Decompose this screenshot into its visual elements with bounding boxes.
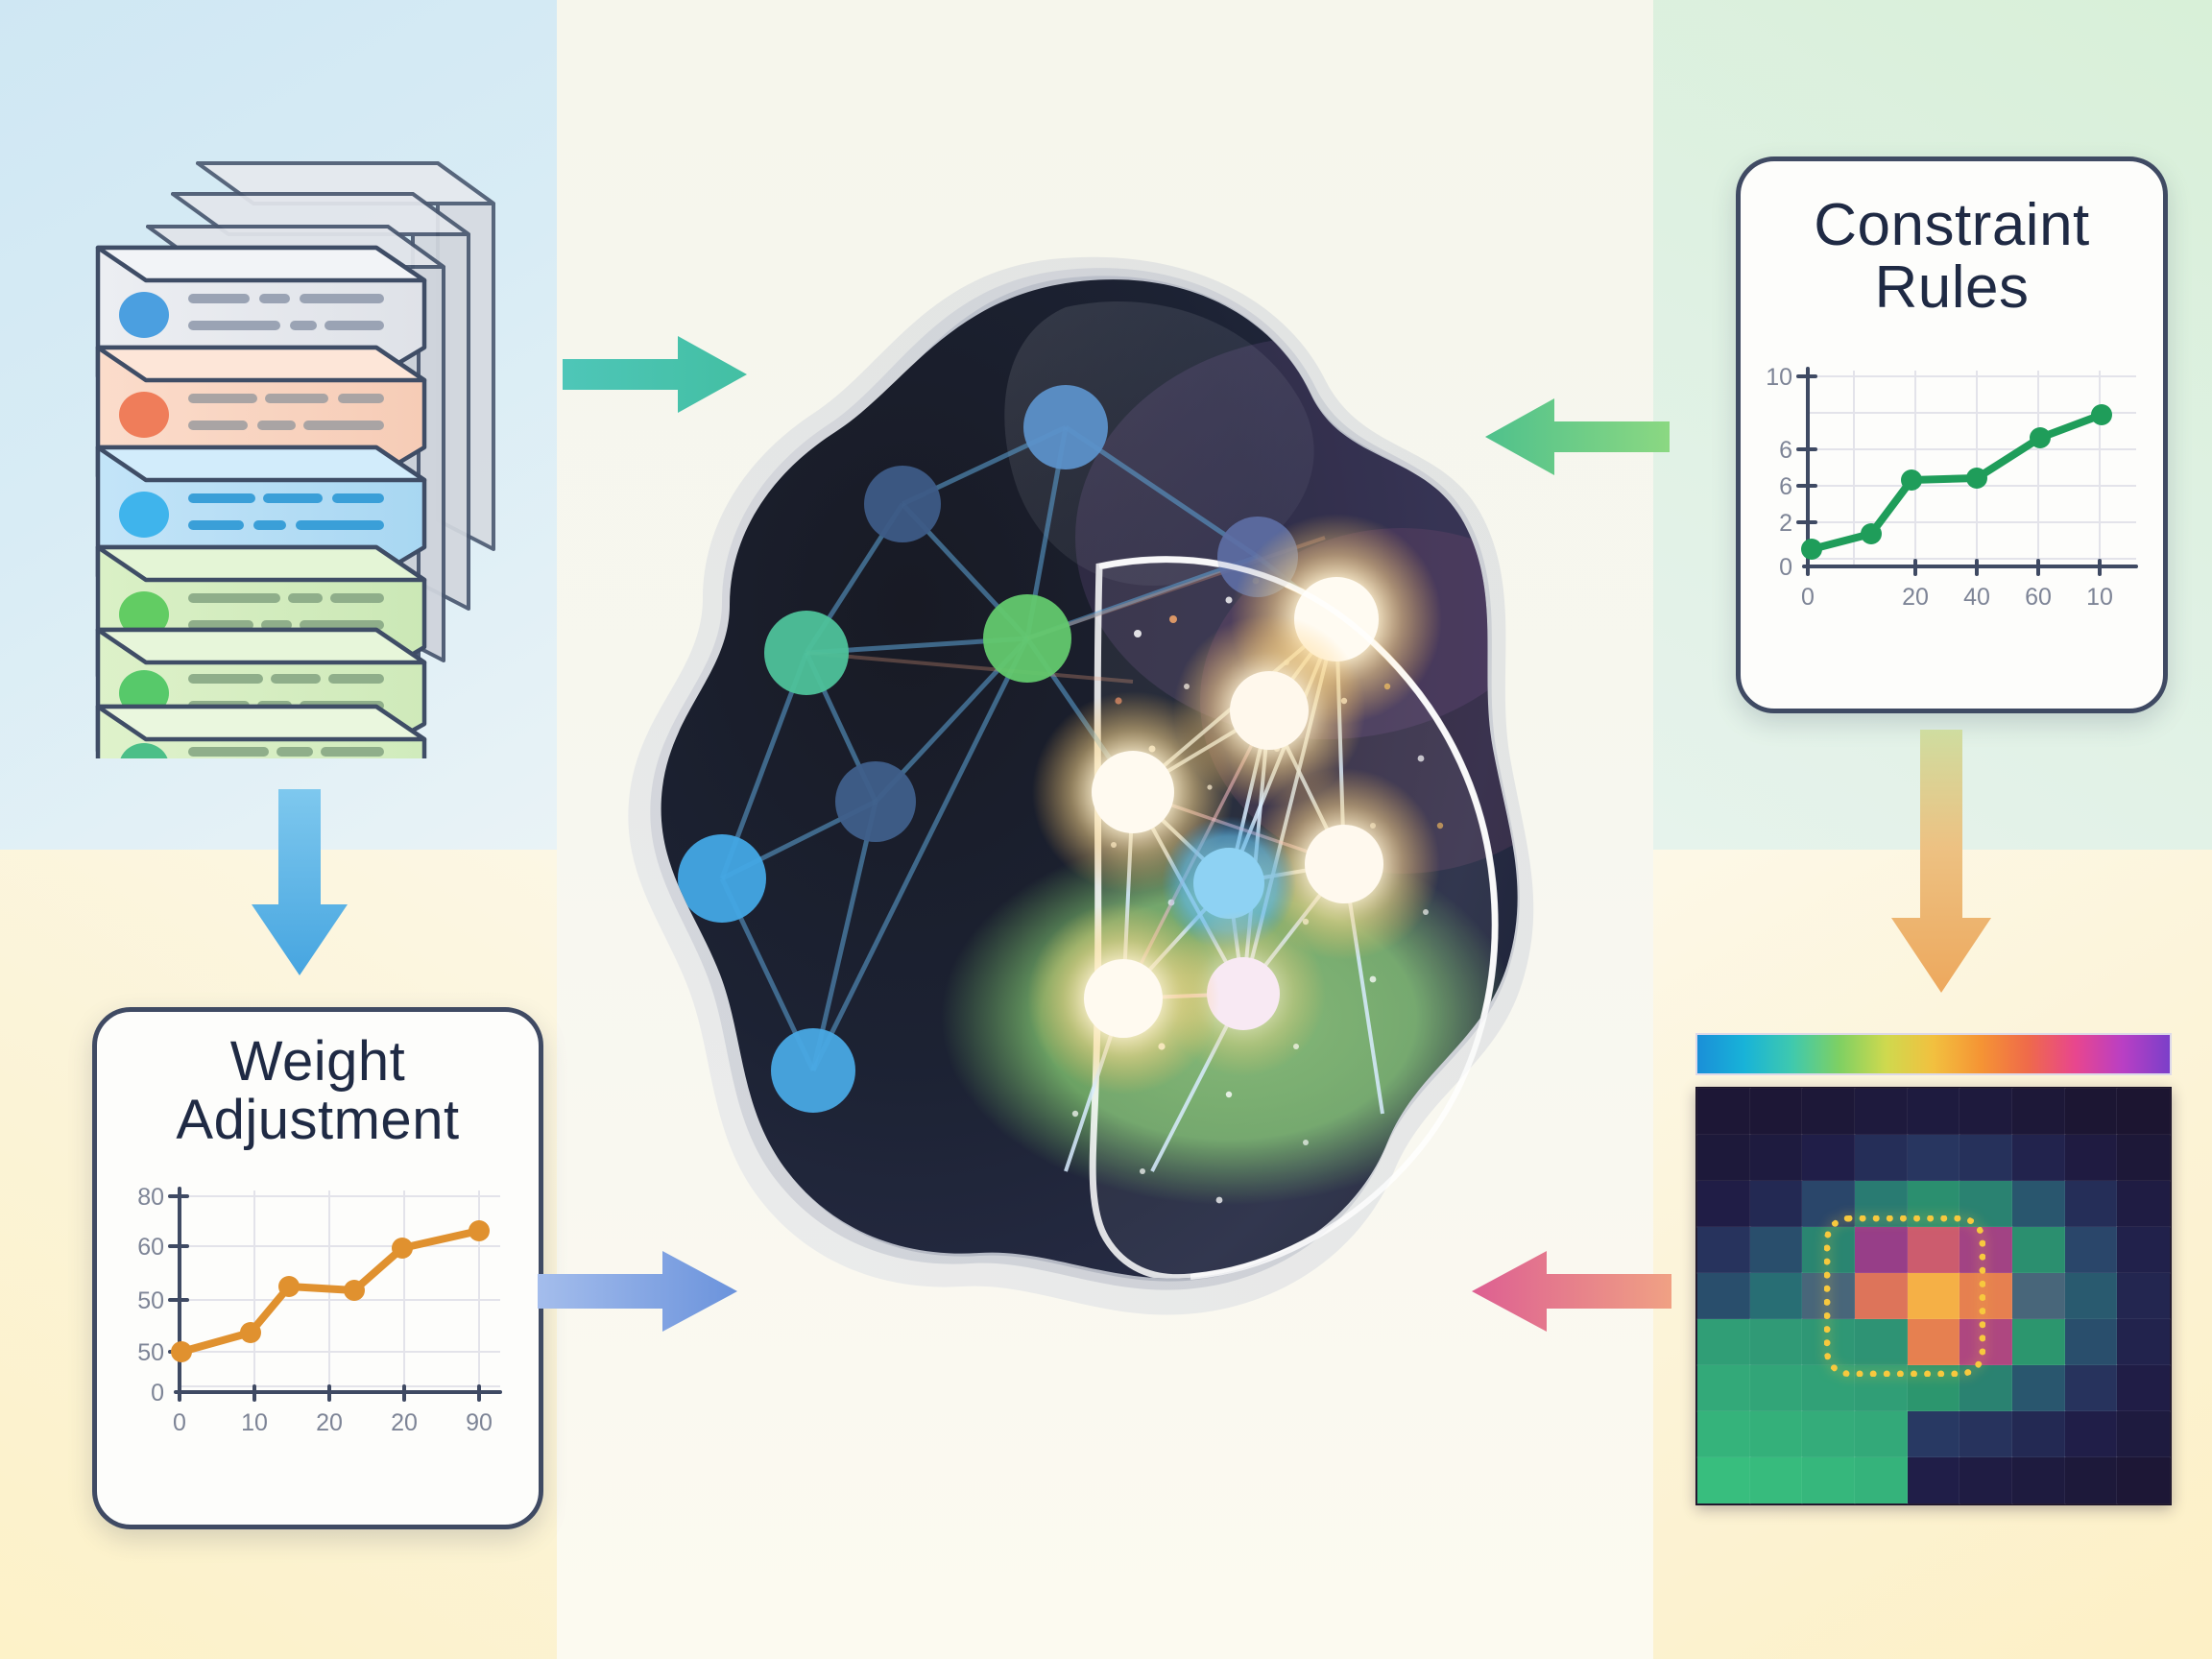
heatmap-cell[interactable]: [1750, 1411, 1803, 1457]
title-line-2: Rules: [1741, 256, 2163, 319]
svg-text:10: 10: [2086, 584, 2113, 611]
diagram-canvas: Constraint Rules: [0, 0, 2212, 1659]
heatmap-highlight-region[interactable]: [1824, 1215, 1985, 1377]
svg-text:60: 60: [2025, 584, 2052, 611]
heatmap-cell[interactable]: [1697, 1457, 1750, 1503]
heatmap-cell[interactable]: [1750, 1365, 1803, 1411]
data-records-stack[interactable]: [84, 144, 536, 758]
arrow-heatmap-to-core: [1467, 1243, 1673, 1339]
heatmap-cell[interactable]: [2117, 1273, 2170, 1319]
heatmap-cell[interactable]: [2065, 1135, 2118, 1181]
svg-text:60: 60: [137, 1234, 164, 1261]
weight-adjustment-chart: 80 60 50 50 0 0 10 20 20 90: [97, 1164, 539, 1448]
arrow-rules-to-heatmap: [1884, 730, 1999, 998]
arrow-data-to-core: [559, 326, 751, 422]
arrow-rules-to-core: [1477, 389, 1673, 485]
heatmap-cell[interactable]: [2012, 1365, 2065, 1411]
heatmap-cell[interactable]: [2065, 1365, 2118, 1411]
heatmap-cell[interactable]: [1960, 1135, 2012, 1181]
heatmap-cell[interactable]: [1908, 1135, 1960, 1181]
heatmap-cell[interactable]: [1697, 1135, 1750, 1181]
heatmap-cell[interactable]: [1697, 1181, 1750, 1227]
heatmap-cell[interactable]: [1697, 1089, 1750, 1135]
heatmap-colorbar: [1695, 1033, 2172, 1075]
svg-text:2: 2: [1779, 510, 1792, 537]
heatmap-cell[interactable]: [2012, 1457, 2065, 1503]
svg-text:0: 0: [151, 1380, 164, 1407]
attention-heatmap[interactable]: [1695, 1033, 2172, 1505]
data-row[interactable]: [98, 707, 424, 758]
heatmap-cell[interactable]: [1802, 1135, 1855, 1181]
svg-text:20: 20: [391, 1409, 418, 1436]
heatmap-cell[interactable]: [2012, 1135, 2065, 1181]
heatmap-cell[interactable]: [1960, 1089, 2012, 1135]
heatmap-cell[interactable]: [1697, 1227, 1750, 1273]
heatmap-cell[interactable]: [1802, 1089, 1855, 1135]
heatmap-cell[interactable]: [1960, 1411, 2012, 1457]
chart-xticklabels: 0 10 20 20 90: [173, 1409, 493, 1436]
heatmap-cell[interactable]: [2012, 1273, 2065, 1319]
svg-text:50: 50: [137, 1287, 164, 1314]
svg-text:0: 0: [173, 1409, 186, 1436]
svg-text:20: 20: [1902, 584, 1929, 611]
heatmap-cell[interactable]: [1697, 1365, 1750, 1411]
heatmap-cell[interactable]: [2065, 1457, 2118, 1503]
card-title-constraint-rules: Constraint Rules: [1741, 194, 2163, 319]
heatmap-cell[interactable]: [1802, 1457, 1855, 1503]
card-constraint-rules[interactable]: Constraint Rules: [1736, 156, 2168, 713]
heatmap-cell[interactable]: [2012, 1227, 2065, 1273]
svg-text:40: 40: [1963, 584, 1990, 611]
title-line-1: Weight: [97, 1033, 539, 1092]
chart-xticklabels: 0 20 40 60 10: [1801, 584, 2113, 611]
heatmap-cell[interactable]: [2065, 1273, 2118, 1319]
svg-text:0: 0: [1779, 554, 1792, 581]
heatmap-cell[interactable]: [1908, 1089, 1960, 1135]
heatmap-cell[interactable]: [1750, 1273, 1803, 1319]
arrow-weights-to-core: [536, 1243, 742, 1339]
heatmap-cell[interactable]: [1750, 1457, 1803, 1503]
heatmap-cell[interactable]: [1855, 1457, 1908, 1503]
heatmap-cell[interactable]: [2065, 1319, 2118, 1365]
card-weight-adjustment[interactable]: Weight Adjustment: [92, 1007, 543, 1529]
svg-text:6: 6: [1779, 473, 1792, 500]
title-line-1: Constraint: [1741, 194, 2163, 256]
heatmap-cell[interactable]: [1697, 1319, 1750, 1365]
heatmap-cell[interactable]: [1750, 1135, 1803, 1181]
blob-core: [614, 250, 1536, 1440]
heatmap-cell[interactable]: [2117, 1089, 2170, 1135]
title-line-2: Adjustment: [97, 1092, 539, 1150]
svg-text:20: 20: [316, 1409, 343, 1436]
heatmap-cell[interactable]: [2065, 1089, 2118, 1135]
heatmap-cell[interactable]: [2012, 1319, 2065, 1365]
chart-axes: [170, 1189, 500, 1400]
heatmap-cell[interactable]: [1908, 1411, 1960, 1457]
svg-text:90: 90: [466, 1409, 493, 1436]
heatmap-cell[interactable]: [2065, 1411, 2118, 1457]
heatmap-cell[interactable]: [2117, 1135, 2170, 1181]
neural-network-blob[interactable]: [614, 250, 1536, 1440]
heatmap-cell[interactable]: [2117, 1319, 2170, 1365]
heatmap-cell[interactable]: [1750, 1181, 1803, 1227]
svg-text:0: 0: [1801, 584, 1815, 611]
heatmap-cell[interactable]: [1855, 1411, 1908, 1457]
chart-yticklabels: 80 60 50 50 0: [137, 1184, 164, 1407]
heatmap-cell[interactable]: [1855, 1089, 1908, 1135]
heatmap-cell[interactable]: [1697, 1411, 1750, 1457]
heatmap-cell[interactable]: [1750, 1319, 1803, 1365]
heatmap-cell[interactable]: [1960, 1457, 2012, 1503]
chart-line: [1812, 415, 2102, 549]
heatmap-cell[interactable]: [1855, 1135, 1908, 1181]
heatmap-cell[interactable]: [1750, 1089, 1803, 1135]
svg-text:10: 10: [1766, 364, 1792, 391]
arrow-data-to-weights: [242, 787, 357, 979]
heatmap-cell[interactable]: [2012, 1411, 2065, 1457]
svg-text:10: 10: [241, 1409, 268, 1436]
heatmap-cell[interactable]: [2117, 1411, 2170, 1457]
svg-text:50: 50: [137, 1339, 164, 1366]
heatmap-cell[interactable]: [2065, 1227, 2118, 1273]
heatmap-cell[interactable]: [1750, 1227, 1803, 1273]
heatmap-cell[interactable]: [1697, 1273, 1750, 1319]
heatmap-cell[interactable]: [2012, 1089, 2065, 1135]
chart-yticklabels: 10 6 6 2 0: [1766, 364, 1792, 581]
heatmap-cell[interactable]: [1908, 1457, 1960, 1503]
heatmap-cell[interactable]: [2117, 1227, 2170, 1273]
heatmap-cell[interactable]: [2117, 1457, 2170, 1503]
card-title-weight-adjustment: Weight Adjustment: [97, 1033, 539, 1150]
heatmap-cell[interactable]: [2065, 1181, 2118, 1227]
heatmap-cell[interactable]: [2012, 1181, 2065, 1227]
svg-text:80: 80: [137, 1184, 164, 1211]
heatmap-cell[interactable]: [2117, 1365, 2170, 1411]
constraint-rules-chart: 10 6 6 2 0 0 20 40 60 10: [1741, 334, 2163, 622]
heatmap-cell[interactable]: [1802, 1411, 1855, 1457]
svg-text:6: 6: [1779, 437, 1792, 464]
heatmap-cell[interactable]: [2117, 1181, 2170, 1227]
